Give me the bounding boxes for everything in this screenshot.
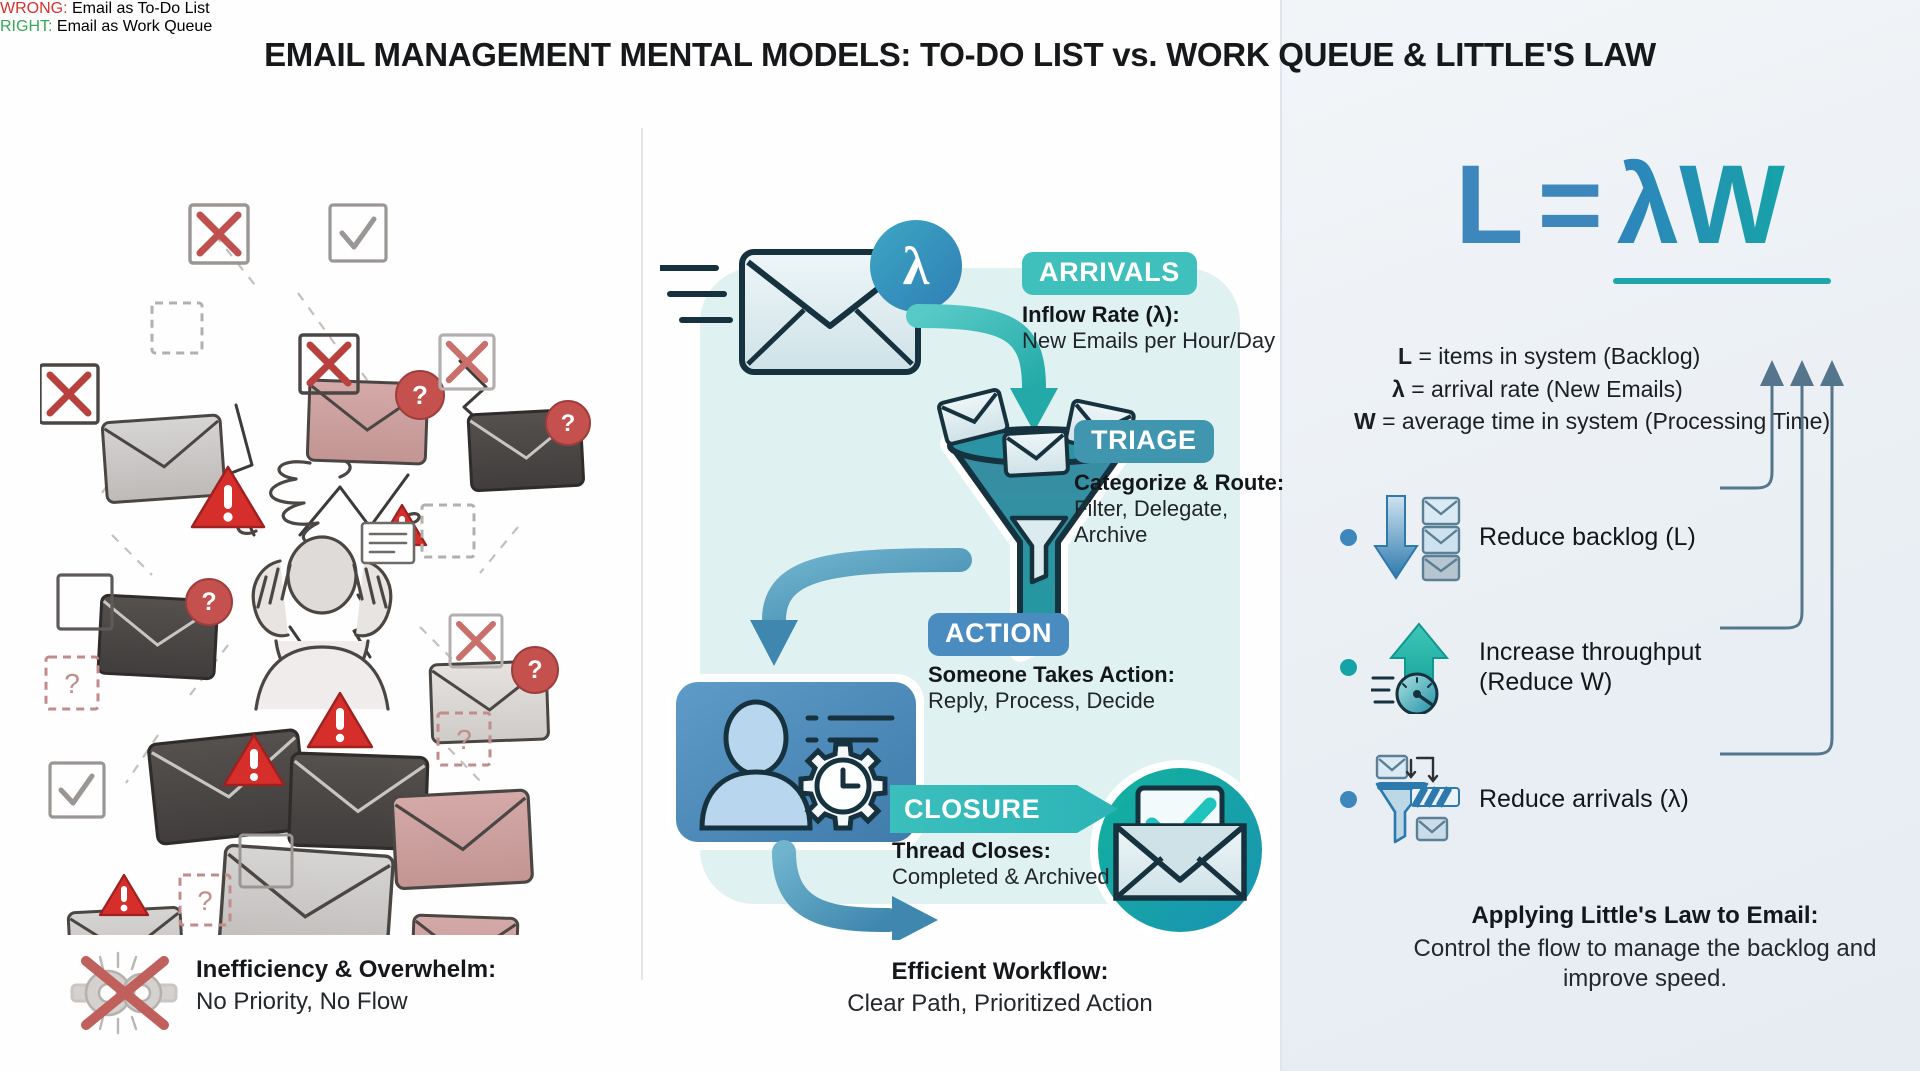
caption-triage: Categorize & Route: Filter, Delegate, Ar… (1074, 470, 1284, 549)
caption-action-line-0: Reply, Process, Decide (928, 688, 1175, 714)
dashed-checkbox-icon: ? (46, 657, 98, 709)
formula-rhs: λW (1617, 140, 1785, 270)
svg-text:?: ? (561, 410, 576, 437)
down-arrow-envelopes-icon (1371, 490, 1465, 584)
caption-closure-line-0: Completed & Archived (892, 864, 1110, 890)
question-badge-icon: ? (396, 371, 444, 419)
left-column-footer: Inefficiency & Overwhelm: No Priority, N… (196, 956, 496, 1016)
funnel-barrier-icon (1371, 752, 1465, 846)
middle-footer-title: Efficient Workflow: (700, 958, 1300, 986)
caption-triage-line-1: Archive (1074, 522, 1284, 548)
definition-symbol-L: L (1398, 343, 1412, 369)
caption-action-title: Someone Takes Action: (928, 662, 1175, 688)
svg-text:?: ? (201, 588, 216, 616)
check-checkbox-icon (50, 763, 104, 817)
formula-lhs: L (1455, 140, 1523, 270)
envelope-icon (392, 790, 533, 889)
right-column-footer: Applying Little's Law to Email: Control … (1390, 902, 1900, 994)
question-badge-icon: ? (546, 401, 590, 445)
caption-arrivals: Inflow Rate (λ): New Emails per Hour/Day (1022, 302, 1275, 354)
envelope-icon (412, 915, 518, 935)
badge-triage: TRIAGE (1074, 420, 1214, 463)
check-checkbox-icon (330, 205, 386, 261)
action-card-icon (668, 674, 924, 850)
badge-arrivals: ARRIVALS (1022, 252, 1197, 295)
x-checkbox-icon (190, 205, 248, 263)
svg-text:?: ? (64, 668, 80, 699)
column-divider-left (641, 128, 643, 980)
caption-arrivals-title: Inflow Rate (λ): (1022, 302, 1275, 328)
x-checkbox-icon (40, 365, 98, 423)
infographic-canvas: EMAIL MANAGEMENT MENTAL MODELS: TO-DO LI… (0, 0, 1920, 1071)
envelope-icon (148, 729, 308, 844)
question-badge-icon: ? (512, 647, 558, 693)
dashed-checkbox-icon (422, 505, 474, 557)
definition-symbol-lambda: λ (1392, 376, 1405, 402)
up-arrow-speedometer-icon (1371, 620, 1465, 714)
broken-gear-icon (70, 945, 180, 1040)
dashed-checkbox-icon (152, 303, 202, 353)
svg-text:?: ? (197, 886, 212, 916)
bullet-label-reduce-arrivals: Reduce arrivals (λ) (1479, 784, 1689, 814)
envelope-icon (218, 845, 393, 935)
document-lines-icon (362, 523, 414, 563)
left-footer-subtitle: No Priority, No Flow (196, 988, 496, 1016)
middle-header-keyword: RIGHT: (0, 18, 52, 35)
svg-text:λ: λ (903, 236, 930, 296)
chaos-svg: ? ? ? (40, 175, 640, 935)
caption-closure-title: Thread Closes: (892, 838, 1110, 864)
left-header-rest: Email as To-Do List (72, 0, 210, 17)
definition-symbol-W: W (1354, 408, 1376, 434)
middle-header-rest: Email as Work Queue (57, 18, 212, 35)
right-footer-subtitle: Control the flow to manage the backlog a… (1390, 934, 1900, 994)
closure-circle-icon (1090, 760, 1270, 940)
bullet-reduce-backlog: Reduce backlog (L) (1340, 490, 1696, 584)
caption-closure: Thread Closes: Completed & Archived (892, 838, 1110, 890)
bullet-dot (1340, 659, 1357, 676)
littles-law-formula: L = λW (1380, 140, 1860, 270)
x-checkbox-icon (450, 615, 502, 667)
bullet-reduce-arrivals: Reduce arrivals (λ) (1340, 752, 1689, 846)
middle-footer-subtitle: Clear Path, Prioritized Action (700, 990, 1300, 1018)
lambda-badge-icon: λ (870, 220, 962, 312)
formula-underline (1613, 278, 1831, 284)
caption-triage-line-0: Filter, Delegate, (1074, 496, 1284, 522)
bullet-dot (1340, 529, 1357, 546)
caption-action: Someone Takes Action: Reply, Process, De… (928, 662, 1175, 714)
definition-text-L: = items in system (Backlog) (1418, 343, 1700, 369)
svg-text:?: ? (527, 656, 542, 684)
bullet-dot (1340, 791, 1357, 808)
caption-triage-title: Categorize & Route: (1074, 470, 1284, 496)
left-footer-title: Inefficiency & Overwhelm: (196, 956, 496, 984)
bullet-label-reduce-backlog: Reduce backlog (L) (1479, 522, 1696, 552)
warning-triangle-icon (100, 875, 148, 915)
chaos-illustration: ? ? ? (40, 175, 640, 935)
svg-text:?: ? (456, 724, 472, 755)
page-title: EMAIL MANAGEMENT MENTAL MODELS: TO-DO LI… (0, 36, 1920, 74)
feedback-loop-arrows (1720, 360, 1920, 860)
left-header-keyword: WRONG: (0, 0, 68, 17)
caption-arrivals-line-0: New Emails per Hour/Day (1022, 328, 1275, 354)
formula-operator: = (1538, 140, 1603, 270)
bullet-increase-throughput: Increase throughput (Reduce W) (1340, 620, 1701, 714)
badge-action: ACTION (928, 613, 1069, 656)
definition-text-lambda: = arrival rate (New Emails) (1411, 376, 1683, 402)
envelope-icon (102, 415, 225, 503)
svg-text:?: ? (412, 380, 428, 410)
right-footer-title: Applying Little's Law to Email: (1390, 902, 1900, 930)
badge-closure: CLOSURE (890, 785, 1118, 833)
middle-column-footer: Efficient Workflow: Clear Path, Prioriti… (700, 958, 1300, 1018)
x-checkbox-icon (440, 335, 494, 389)
question-badge-icon: ? (186, 579, 232, 625)
bullet-label-increase-throughput: Increase throughput (Reduce W) (1479, 637, 1701, 697)
